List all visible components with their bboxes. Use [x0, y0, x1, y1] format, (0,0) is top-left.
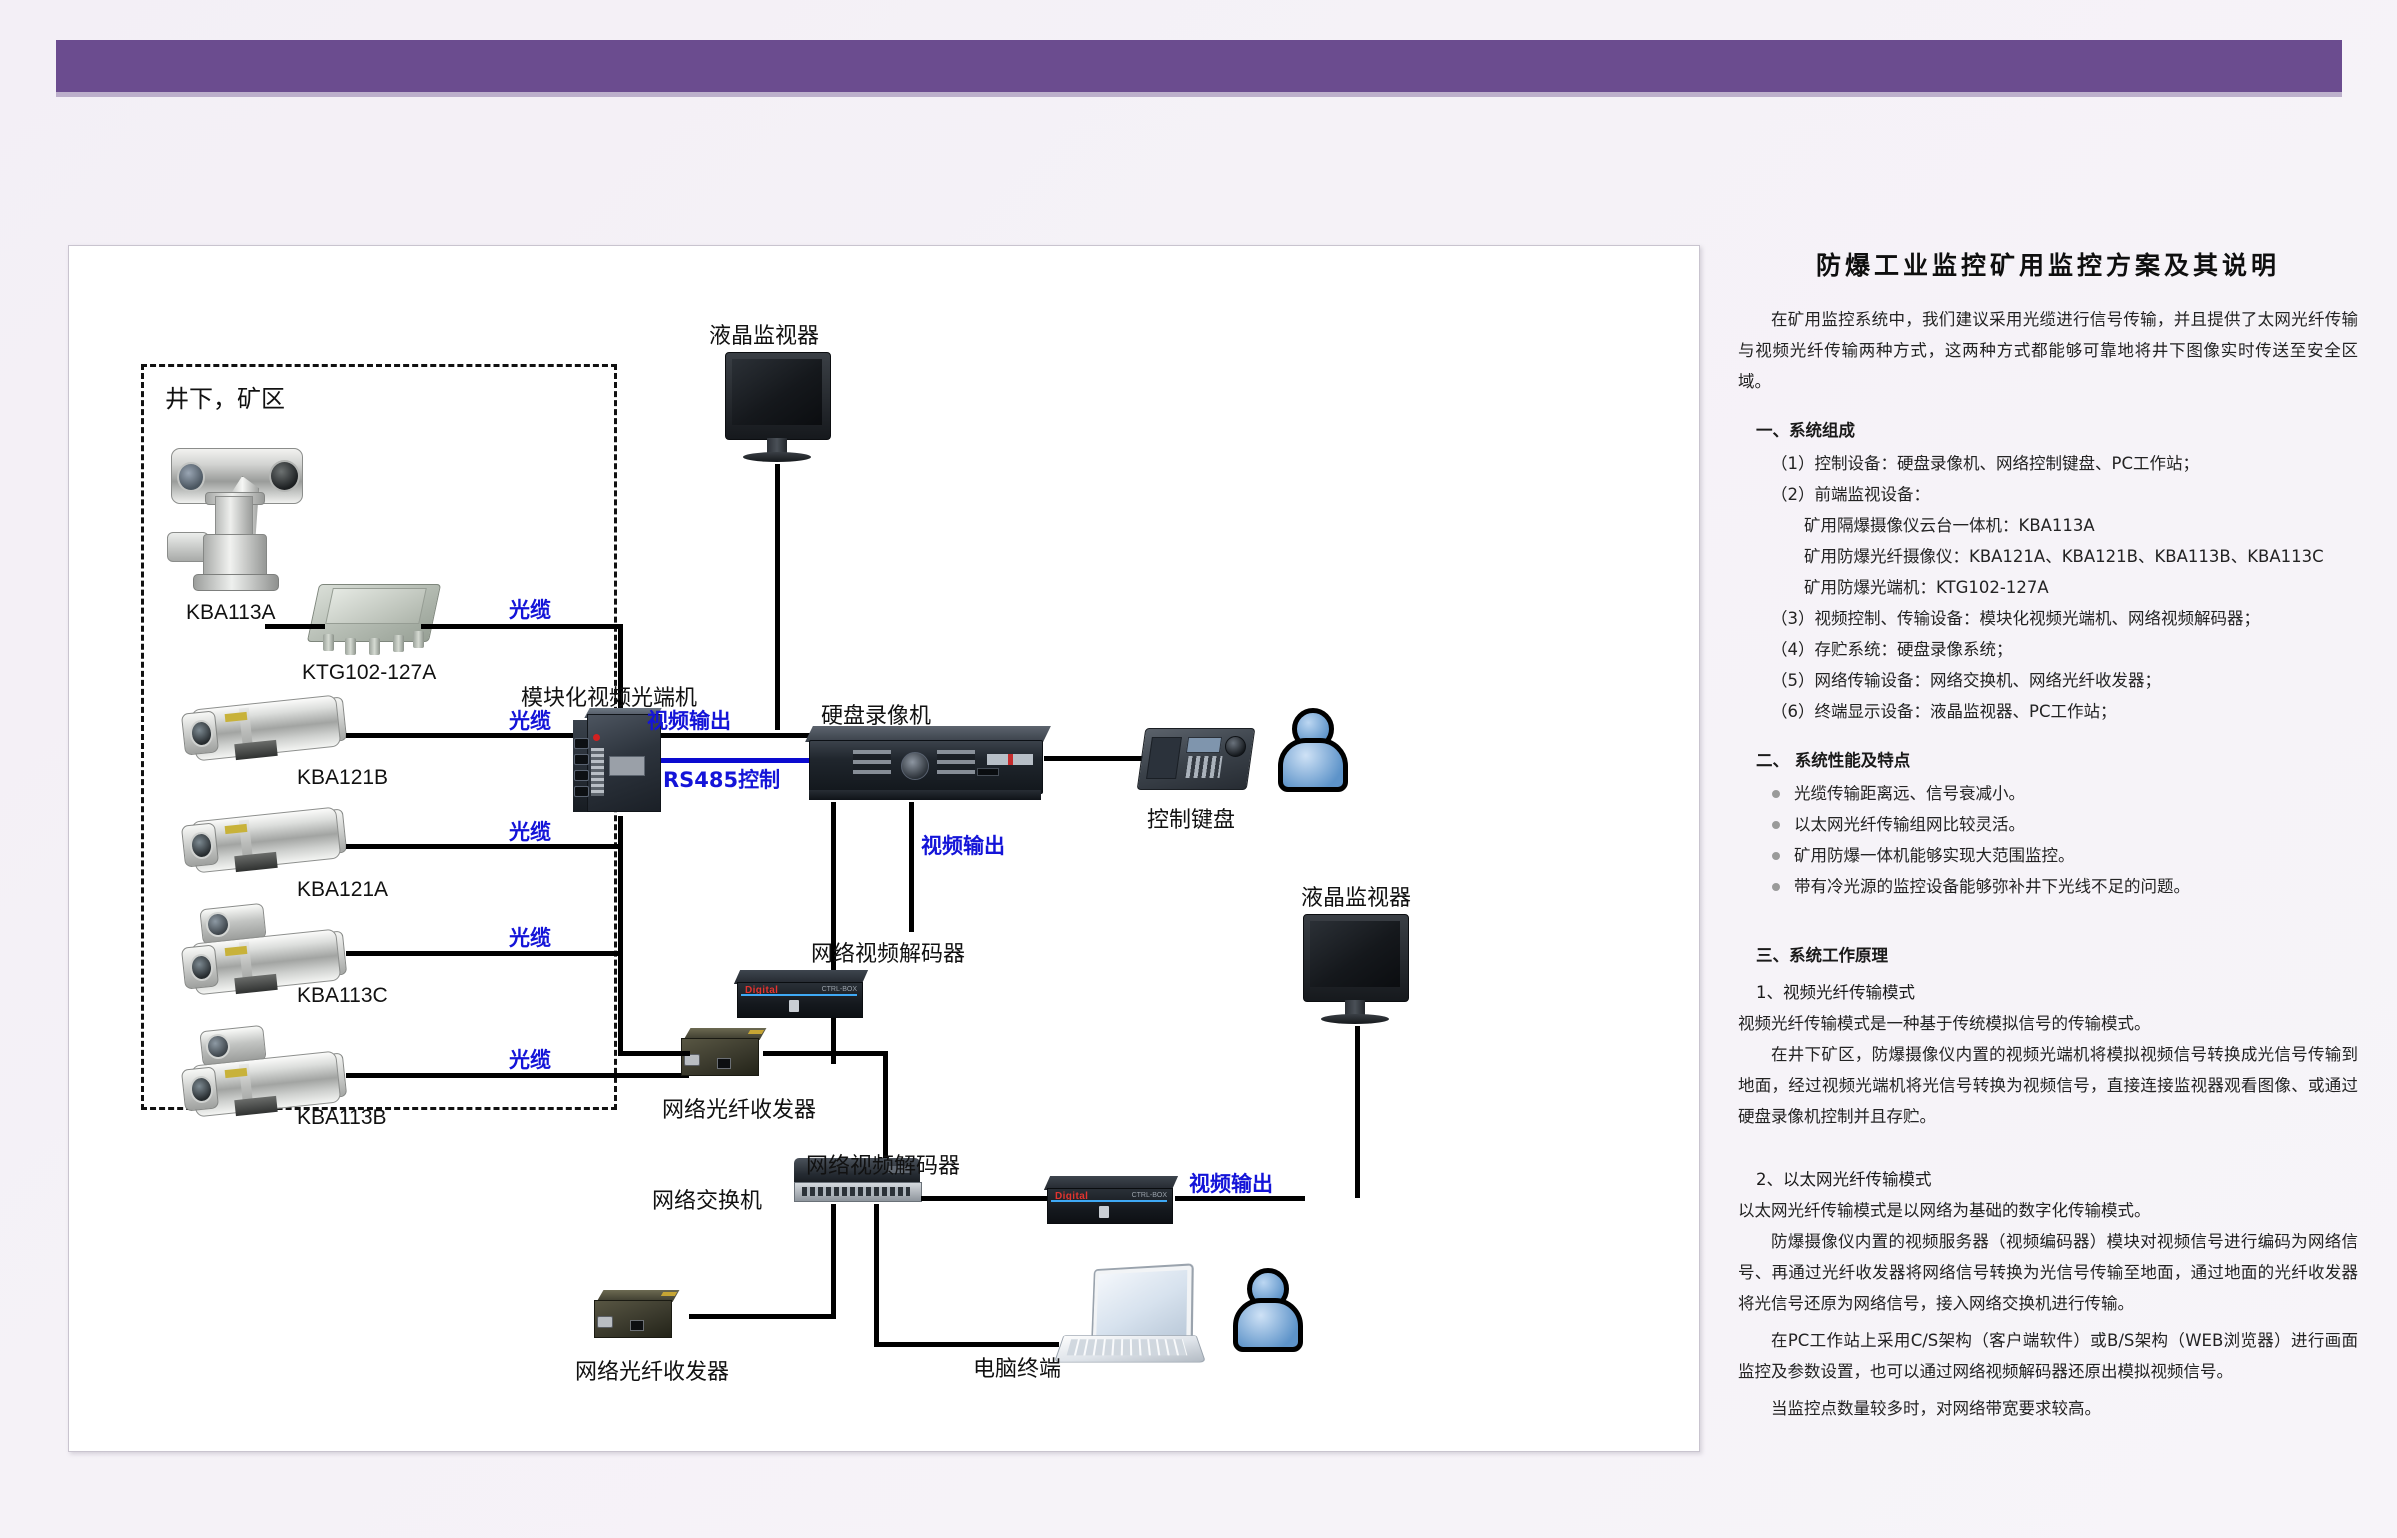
- mode-2-paragraph-2: 在PC工作站上采用C/S架构（客户端软件）或B/S架构（WEB浏览器）进行画面监…: [1738, 1325, 2358, 1387]
- section-2-bullet-2: 以太网光纤传输组网比较灵活。: [1738, 809, 2358, 840]
- wire-switch-down-left: [831, 1204, 836, 1319]
- bullet-dot-icon: [1772, 883, 1780, 891]
- wire-fiber1-run: [531, 624, 623, 629]
- wire-converter-bottom-to-switch: [689, 1314, 834, 1319]
- bullet-dot-icon: [1772, 852, 1780, 860]
- purple-header-band: [56, 40, 2342, 92]
- wire-switch-to-laptop: [874, 1342, 1059, 1347]
- fiber-media-converter-bottom: [594, 1290, 684, 1340]
- wire-switch-down-right: [874, 1204, 879, 1344]
- bullet-dot-icon: [1772, 821, 1780, 829]
- label-video-output-2: 视频输出: [921, 830, 1005, 860]
- label-fiber-converter-bottom: 网络光纤收发器: [575, 1354, 729, 1386]
- diagram-canvas: 井下，矿区 KBA113A KTG102-127A 光缆: [69, 246, 1699, 1451]
- section-2-heading: 二、 系统性能及特点: [1738, 745, 2358, 776]
- label-kba113c: KBA113C: [297, 984, 388, 1008]
- label-monitor-bottom: 液晶监视器: [1301, 880, 1411, 912]
- system-diagram-panel: 井下，矿区 KBA113A KTG102-127A 光缆: [68, 245, 1700, 1452]
- section-2-bullet-1: 光缆传输距离远、信号衰减小。: [1738, 778, 2358, 809]
- section-1-item-4: （4）存贮系统：硬盘录像系统；: [1738, 634, 2358, 665]
- section-1-item-2: （2）前端监视设备：: [1738, 479, 2358, 510]
- label-network-switch: 网络交换机: [652, 1183, 762, 1215]
- label-control-keyboard: 控制键盘: [1147, 802, 1235, 834]
- section-1-item-3: （3）视频控制、传输设备：模块化视频光端机、网络视频解码器；: [1738, 603, 2358, 634]
- document-title: 防爆工业监控矿用监控方案及其说明: [1738, 246, 2358, 282]
- operator-avatar-top: [1274, 708, 1346, 790]
- mode-1-line-1: 视频光纤传输模式是一种基于传统模拟信号的传输模式。: [1738, 1008, 2358, 1039]
- mode-1-paragraph: 在井下矿区，防爆摄像仪内置的视频光端机将模拟视频信号转换成光信号传输到地面，经过…: [1738, 1039, 2358, 1132]
- mode-1-heading: 1、视频光纤传输模式: [1738, 977, 2358, 1008]
- junction-box-ktg102: [305, 576, 445, 656]
- section-2-bullet-3-text: 矿用防爆一体机能够实现大范围监控。: [1794, 846, 2075, 865]
- control-keyboard: [1141, 728, 1256, 794]
- section-1-heading: 一、系统组成: [1738, 415, 2358, 446]
- label-kba113b: KBA113B: [297, 1106, 387, 1130]
- wire-trunk-to-converter-mid: [618, 1051, 690, 1056]
- mode-2-paragraph-3: 当监控点数量较多时，对网络带宽要求较高。: [1738, 1393, 2358, 1424]
- wire-jbox-to-fiber1: [421, 624, 531, 629]
- mode-2-heading: 2、以太网光纤传输模式: [1738, 1164, 2358, 1195]
- camera-kba121a: [179, 798, 359, 878]
- wire-mvo-down-trunk: [618, 816, 623, 1051]
- wire-dvr-to-keyboard: [1044, 756, 1144, 761]
- camera-kba121b: [179, 686, 359, 766]
- section-2-bullet-4: 带有冷光源的监控设备能够弥补井下光线不足的问题。: [1738, 871, 2358, 902]
- operator-avatar-bottom: [1229, 1268, 1301, 1350]
- mode-spacer: [1738, 1138, 2358, 1158]
- dvr-hard-disk-recorder: [809, 726, 1049, 806]
- section-spacer: [1738, 902, 2358, 922]
- header-band-shadow: [56, 92, 2342, 97]
- label-kba121b: KBA121B: [297, 766, 388, 790]
- wire-decoder-lower-to-monitor: [1175, 1196, 1305, 1201]
- wire-cam3-to-junction: [346, 844, 621, 849]
- wire-monitor-top-to-dvr: [775, 464, 780, 730]
- label-fiber-3: 光缆: [509, 816, 551, 846]
- section-1-item-5: （5）网络传输设备：网络交换机、网络光纤收发器；: [1738, 665, 2358, 696]
- wire-mvo-video-to-dvr: [661, 733, 811, 738]
- wire-switch-to-decoder-lower: [921, 1196, 1051, 1201]
- ptz-camera-kba113a: [161, 426, 311, 594]
- wire-cam4-to-converter: [346, 951, 621, 956]
- section-2-bullet-2-text: 以太网光纤传输组网比较灵活。: [1794, 815, 2025, 834]
- section-3-heading: 三、系统工作原理: [1738, 940, 2358, 971]
- fiber-media-converter-mid: [681, 1028, 771, 1078]
- label-video-output-1: 视频输出: [647, 705, 731, 735]
- mine-area-label: 井下，矿区: [165, 379, 285, 414]
- section-1-item-1: （1）控制设备：硬盘录像机、网络控制键盘、PC工作站；: [1738, 448, 2358, 479]
- section-1-subitem-2: 矿用防爆光纤摄像仪：KBA121A、KBA121B、KBA113B、KBA113…: [1738, 541, 2358, 572]
- wire-dvr-video-out-down: [909, 802, 914, 932]
- label-decoder-lower: 网络视频解码器: [806, 1148, 960, 1180]
- explanation-text-column: 防爆工业监控矿用监控方案及其说明 在矿用监控系统中，我们建议采用光缆进行信号传输…: [1738, 246, 2358, 1466]
- label-fiber-converter-mid: 网络光纤收发器: [662, 1092, 816, 1124]
- network-video-decoder-lower: Digital CTRL-BOX: [1047, 1176, 1179, 1226]
- wire-cam1-to-jbox: [265, 624, 325, 629]
- section-1-subitem-3: 矿用防爆光端机：KTG102-127A: [1738, 572, 2358, 603]
- label-rs485-control: RS485控制: [663, 764, 780, 794]
- section-2-bullet-3: 矿用防爆一体机能够实现大范围监控。: [1738, 840, 2358, 871]
- label-kba121a: KBA121A: [297, 878, 388, 902]
- intro-paragraph: 在矿用监控系统中，我们建议采用光缆进行信号传输，并且提供了太网光纤传输与视频光纤…: [1738, 304, 2358, 397]
- wire-monitor-bottom-up: [1355, 1026, 1360, 1198]
- lcd-monitor-top: [725, 352, 835, 466]
- label-pc-terminal: 电脑终端: [973, 1351, 1061, 1383]
- wire-dvr-down-to-switch: [831, 802, 836, 1064]
- wire-converter-mid-to-switch: [763, 1051, 888, 1056]
- label-decoder-upper: 网络视频解码器: [811, 936, 965, 968]
- network-video-decoder-upper: Digital CTRL-BOX: [737, 970, 869, 1020]
- section-1-subitem-1: 矿用隔爆摄像仪云台一体机：KBA113A: [1738, 510, 2358, 541]
- section-2-bullet-4-text: 带有冷光源的监控设备能够弥补井下光线不足的问题。: [1794, 877, 2190, 896]
- mode-2-paragraph-1: 防爆摄像仪内置的视频服务器（视频编码器）模块对视频信号进行编码为网络信号、再通过…: [1738, 1226, 2358, 1319]
- label-kba113a: KBA113A: [186, 601, 276, 625]
- label-fiber-5: 光缆: [509, 1044, 551, 1074]
- label-ktg102-127a: KTG102-127A: [302, 661, 436, 685]
- bullet-dot-icon: [1772, 790, 1780, 798]
- wire-rs485-to-dvr: [661, 758, 811, 763]
- label-fiber-4: 光缆: [509, 922, 551, 952]
- section-2-bullet-1-text: 光缆传输距离远、信号衰减小。: [1794, 784, 2025, 803]
- label-monitor-top: 液晶监视器: [709, 318, 819, 350]
- mode-2-line-1: 以太网光纤传输模式是以网络为基础的数字化传输模式。: [1738, 1195, 2358, 1226]
- lcd-monitor-bottom: [1303, 914, 1413, 1028]
- section-1-item-6: （6）终端显示设备：液晶监视器、PC工作站；: [1738, 696, 2358, 727]
- label-video-output-3: 视频输出: [1189, 1168, 1273, 1198]
- label-fiber-1: 光缆: [509, 594, 551, 624]
- pc-terminal-laptop: [1059, 1268, 1209, 1378]
